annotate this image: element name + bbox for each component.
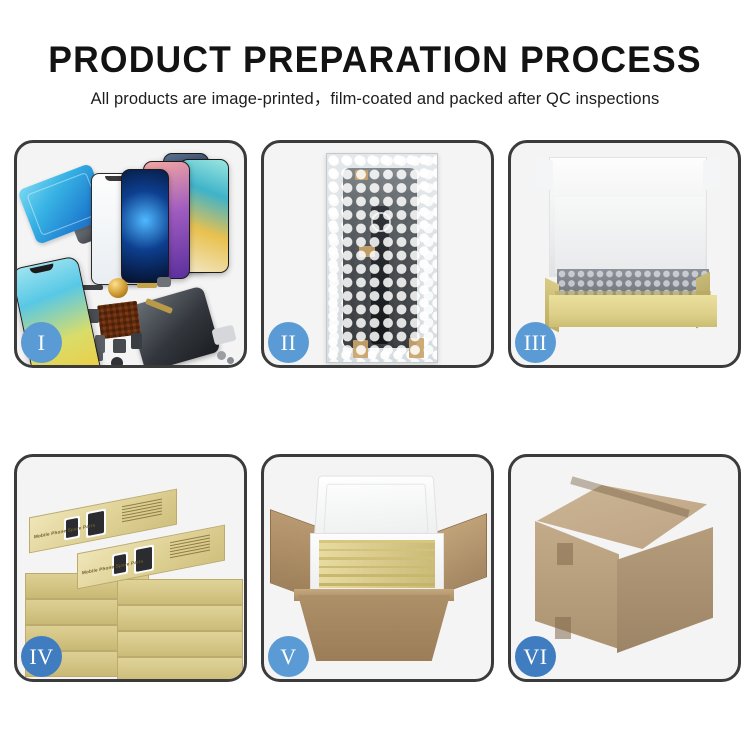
flex-cable-2-icon <box>137 283 157 288</box>
carton-left-face-icon <box>535 521 619 649</box>
screw-2-icon <box>227 357 234 364</box>
kraft-box-front-icon <box>549 295 717 327</box>
process-step-card-1: I <box>14 140 247 368</box>
page-header: PRODUCT PREPARATION PROCESS All products… <box>0 0 750 108</box>
carton-front-icon <box>298 595 450 661</box>
foam-sheet-icon <box>555 197 705 273</box>
tool-icon <box>211 325 236 346</box>
process-step-grid: I II <box>14 140 737 680</box>
component-8-icon <box>131 333 142 349</box>
step-badge-2: II <box>268 322 309 363</box>
page-title: PRODUCT PREPARATION PROCESS <box>15 41 735 78</box>
label-text-lines-back <box>122 499 162 525</box>
product-preparation-process-page: PRODUCT PREPARATION PROCESS All products… <box>0 0 750 750</box>
vibration-motor-icon <box>108 278 128 298</box>
process-step-card-3: III <box>508 140 741 368</box>
label-text-lines-front <box>170 535 210 561</box>
connector-icon <box>157 277 171 287</box>
component-7-icon <box>113 339 126 353</box>
camera-module-icon <box>111 357 123 368</box>
process-step-card-4: Mobile Phone Spare Parts Mobile Phone Sp… <box>14 454 247 682</box>
step-badge-4: IV <box>21 636 62 677</box>
page-subtitle: All products are image-printed，film-coat… <box>0 91 750 108</box>
stacked-box-slab-5 <box>117 657 243 682</box>
stacked-box-slab-7 <box>117 605 243 631</box>
carton-tab-upper-icon <box>557 543 573 565</box>
yellow-boxes-inside-icon <box>319 540 435 588</box>
phone-backplate-icon <box>127 286 221 368</box>
step-badge-6: VI <box>515 636 556 677</box>
carton-tab-lower-icon <box>555 617 571 639</box>
process-step-card-6: VI <box>508 454 741 682</box>
phone-display-a-icon <box>121 169 169 283</box>
step-badge-3: III <box>515 322 556 363</box>
bubble-wrap-bag-icon <box>326 153 438 363</box>
screw-1-icon <box>217 351 226 360</box>
step-badge-5: V <box>268 636 309 677</box>
step-badge-1: I <box>21 322 62 363</box>
process-step-card-2: II <box>261 140 494 368</box>
stacked-box-slab-6 <box>117 631 243 657</box>
bubble-texture-overlay <box>327 154 437 362</box>
stacked-box-slab-8 <box>117 579 243 605</box>
process-step-card-5: V <box>261 454 494 682</box>
